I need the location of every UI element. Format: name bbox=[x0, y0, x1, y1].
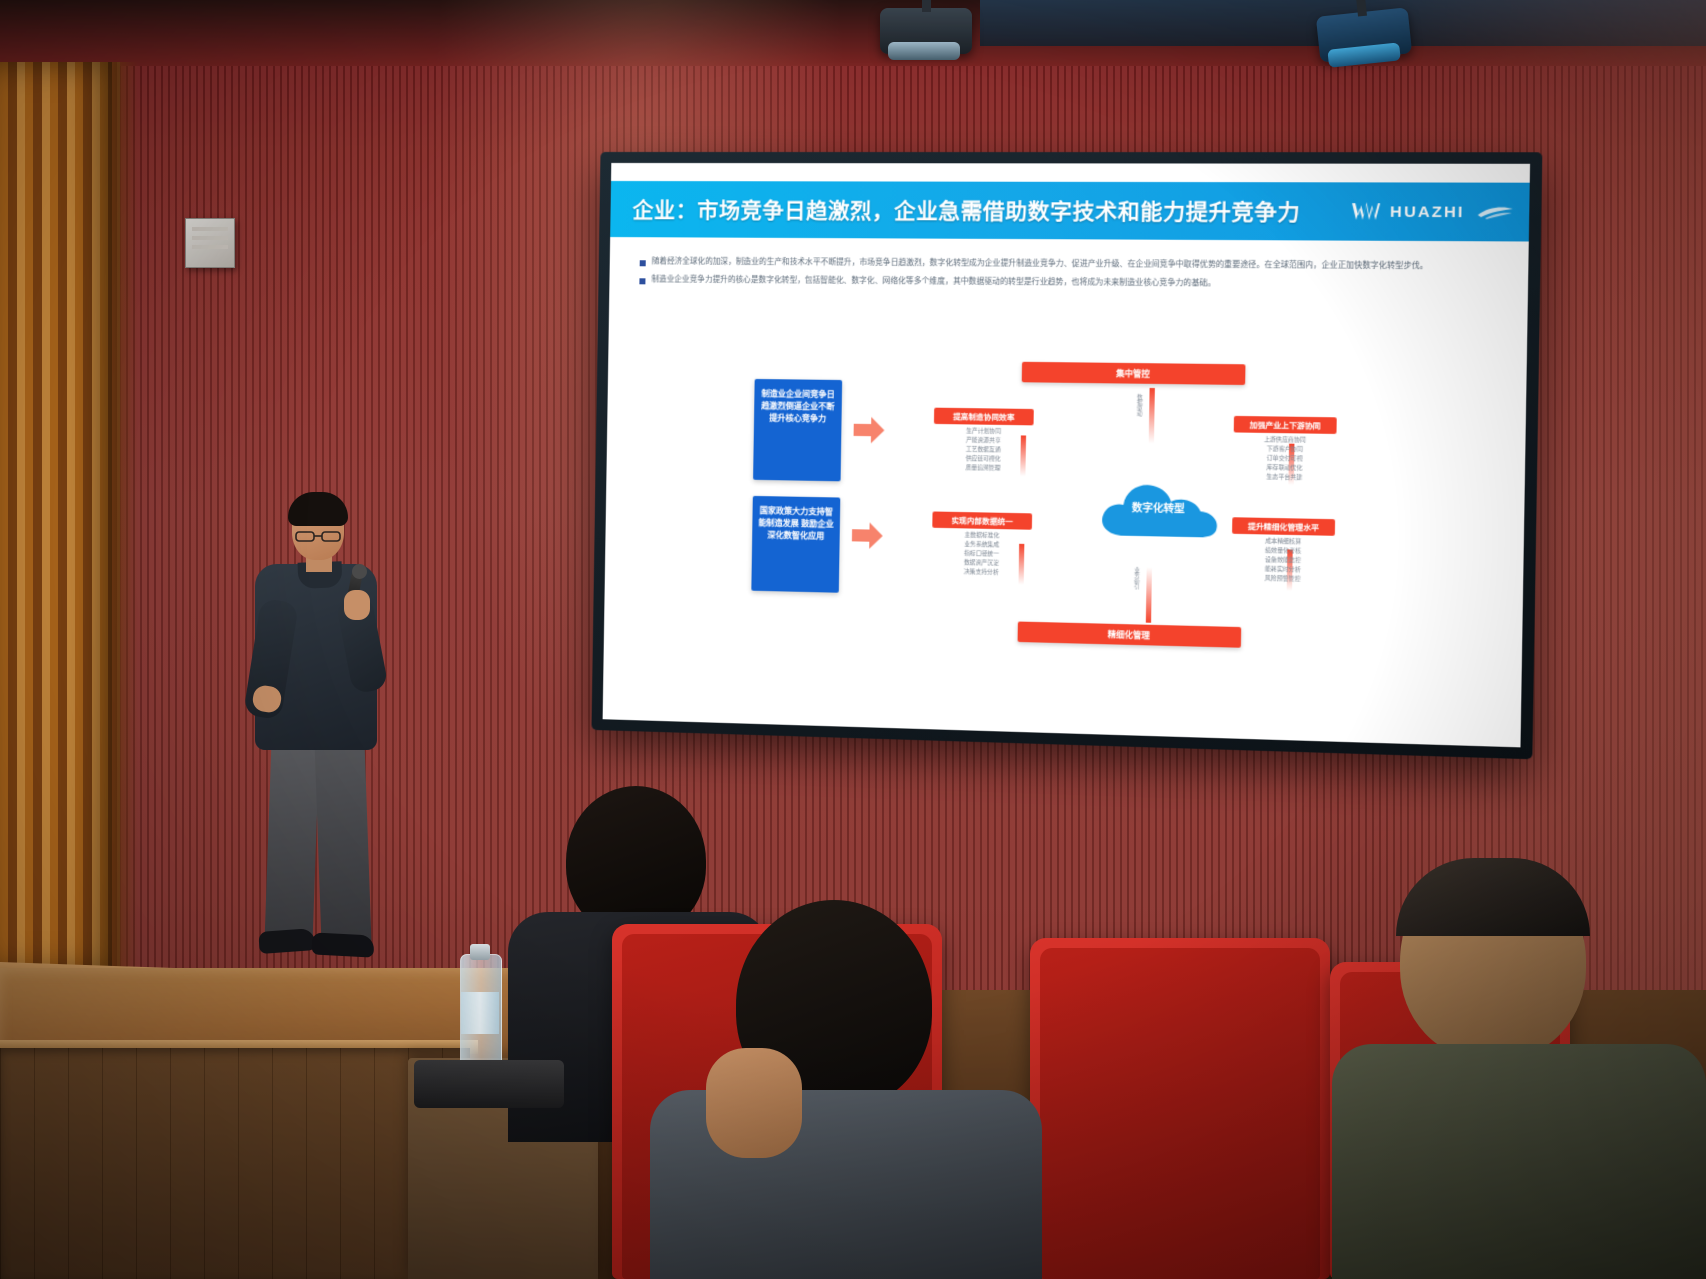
light-lens bbox=[888, 42, 960, 60]
axis-label: 业务牵引 bbox=[1132, 567, 1141, 589]
presenter-leg-right bbox=[314, 739, 371, 947]
stage-curtain bbox=[0, 62, 120, 972]
slide-bullets: 随着经济全球化的加深，制造业的生产和技术水平不断提升，市场竞争日趋激烈，数字化转… bbox=[639, 255, 1484, 298]
bottle-label bbox=[461, 992, 499, 1034]
logo-text: HUAZHI bbox=[1390, 203, 1465, 221]
bullet-item: 随着经济全球化的加深，制造业的生产和技术水平不断提升，市场竞争日趋激烈，数字化转… bbox=[640, 255, 1485, 271]
eyeglasses-icon bbox=[295, 531, 341, 542]
stage-front-panel bbox=[0, 1048, 470, 1279]
driver-competition-box: 制造业企业间竞争日趋激烈倒逼企业不断提升核心竞争力 bbox=[753, 379, 842, 481]
gradient-connector bbox=[1146, 567, 1152, 623]
quadrant-data-unify-items: 主数据标准化业务系统集成指标口径统一数据资产沉淀决策支持分析 bbox=[932, 531, 1032, 579]
quadrant-data-unify-title: 实现内部数据统一 bbox=[932, 511, 1032, 529]
light-arm bbox=[922, 0, 931, 12]
arrow-right-icon bbox=[853, 417, 884, 444]
slide-header: 企业：市场竞争日趋激烈，企业急需借助数字技术和能力提升竞争力 HUAZHI bbox=[610, 181, 1530, 242]
slide: 企业：市场竞争日趋激烈，企业急需借助数字技术和能力提升竞争力 HUAZHI 随着… bbox=[603, 163, 1530, 747]
presenter-leg-left bbox=[264, 739, 319, 945]
bottle-cap bbox=[470, 944, 490, 960]
auditorium-scene: 企业：市场竞争日趋激烈，企业急需借助数字技术和能力提升竞争力 HUAZHI 随着… bbox=[0, 0, 1706, 1279]
gradient-connector bbox=[1149, 388, 1155, 444]
quadrant-supply-chain-items: 上游供应商协同下游客户协同订单交付可视库存联动优化生态平台共建 bbox=[1233, 436, 1337, 485]
top-bar-label: 集中管控 bbox=[1022, 362, 1246, 385]
stage-curtain-edge bbox=[112, 62, 138, 972]
axis-label: 数据驱动 bbox=[1134, 394, 1143, 416]
light-arm bbox=[1355, 0, 1367, 17]
audience-member-center-hand bbox=[706, 1048, 802, 1158]
wall-speaker-panel bbox=[185, 218, 235, 268]
quadrant-collaboration-items: 生产计划协同产能资源共享工艺数据互通供应链可视化质量追溯管理 bbox=[933, 427, 1033, 475]
bullet-square-icon bbox=[639, 278, 645, 284]
presenter-shoe-right bbox=[311, 932, 374, 957]
display-screen: 企业：市场竞争日趋激烈，企业急需借助数字技术和能力提升竞争力 HUAZHI 随着… bbox=[603, 163, 1530, 747]
driver-policy-box: 国家政策大力支持智能制造发展 鼓励企业深化数智化应用 bbox=[751, 496, 840, 593]
stage-light-right bbox=[1316, 7, 1412, 62]
digital-transformation-label: 数字化转型 bbox=[1097, 498, 1220, 516]
slide-title: 企业：市场竞争日趋激烈，企业急需借助数字技术和能力提升竞争力 bbox=[632, 194, 1300, 227]
microphone-head bbox=[352, 564, 367, 579]
bullet-square-icon bbox=[640, 260, 646, 266]
chair-armrest bbox=[414, 1060, 564, 1108]
arrow-right-icon bbox=[852, 522, 883, 549]
huazhi-w-mark-icon bbox=[1350, 200, 1383, 223]
audience-member-right-shoulders bbox=[1332, 1044, 1706, 1279]
presenter-hair bbox=[288, 492, 348, 526]
bullet-text: 随着经济全球化的加深，制造业的生产和技术水平不断提升，市场竞争日趋激烈，数字化转… bbox=[652, 255, 1429, 271]
presenter-hand-right bbox=[344, 590, 370, 620]
presenter-shoe-left bbox=[258, 928, 315, 954]
presentation-display: 企业：市场竞争日趋激烈，企业急需借助数字技术和能力提升竞争力 HUAZHI 随着… bbox=[591, 152, 1542, 759]
brand-logo: HUAZHI bbox=[1350, 200, 1514, 224]
bullet-text: 制造业企业竞争力提升的核心是数字化转型，包括智能化、数字化、网络化等多个维度，其… bbox=[651, 273, 1215, 288]
quadrant-supply-chain-title: 加强产业上下游协同 bbox=[1234, 416, 1337, 434]
slide-diagram: 制造业企业间竞争日趋激烈倒逼企业不断提升核心竞争力 国家政策大力支持智能制造发展… bbox=[603, 359, 1527, 726]
stage-light-left bbox=[880, 8, 972, 54]
quadrant-operations-title: 提升精细化管理水平 bbox=[1232, 517, 1335, 536]
chair-center bbox=[1030, 938, 1330, 1279]
swoosh-icon bbox=[1477, 204, 1514, 221]
chair-cushion bbox=[1040, 948, 1320, 1279]
bullet-item: 制造业企业竞争力提升的核心是数字化转型，包括智能化、数字化、网络化等多个维度，其… bbox=[639, 273, 1484, 290]
quadrant-operations-items: 成本精细核算绩效量化考核设备效能监控能耗实时分析风险预警管控 bbox=[1231, 537, 1335, 586]
quadrant-collaboration-title: 提高制造协同效率 bbox=[934, 408, 1034, 426]
bottom-bar-label: 精细化管理 bbox=[1018, 622, 1242, 648]
water-bottle bbox=[460, 930, 500, 1070]
